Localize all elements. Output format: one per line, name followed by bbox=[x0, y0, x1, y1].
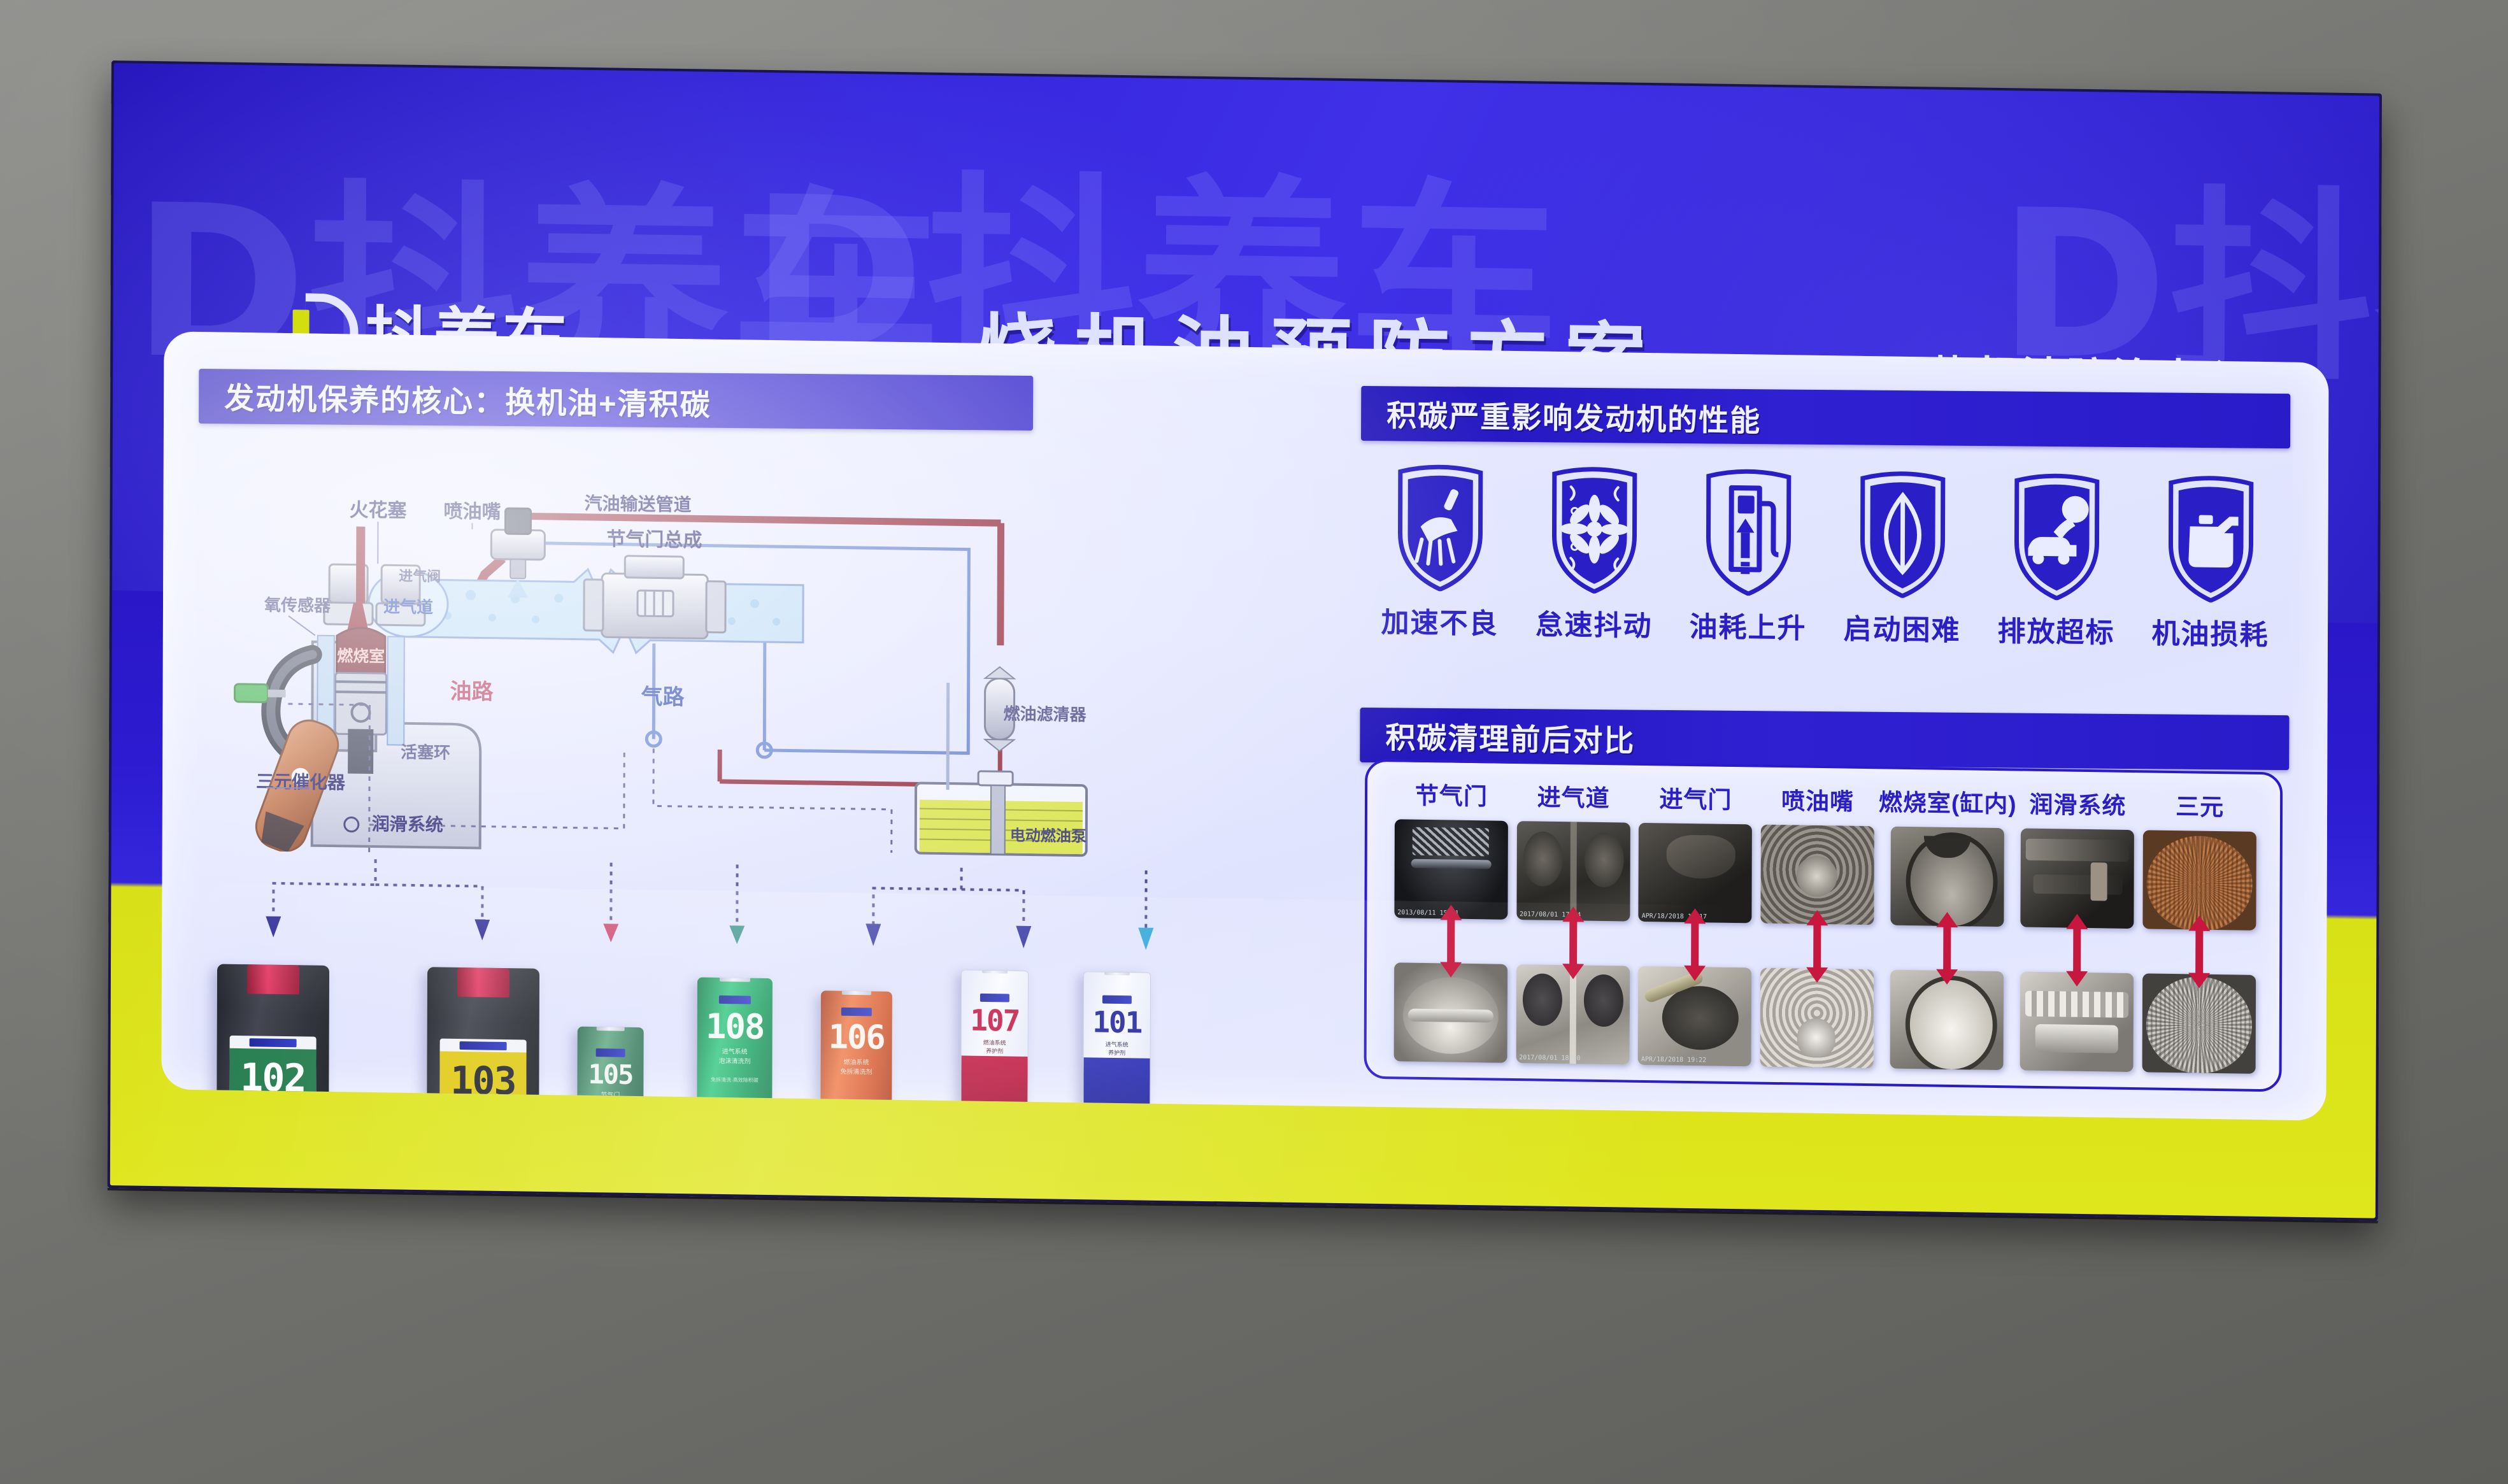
product-103[interactable]: 103 全合成机油抗磨保护长效清洁节能环保 Net 1L bbox=[427, 967, 539, 1120]
section-title-text: 发动机保养的核心：换机油+清积碳 bbox=[199, 373, 711, 424]
compare-column-5: 润滑系统 bbox=[2016, 785, 2139, 1072]
compare-column-label: 进气道 bbox=[1537, 778, 1610, 814]
symptom-label: 加速不良 bbox=[1381, 599, 1498, 642]
product-101[interactable]: 101 进气系统养护剂 Net 300ml bbox=[1083, 971, 1151, 1120]
svg-text:燃烧室: 燃烧室 bbox=[337, 646, 385, 666]
symptom-item-2[interactable]: 油耗上升 bbox=[1683, 464, 1814, 676]
compare-arrow bbox=[1436, 903, 1465, 979]
label-fuel-filter: 燃油滤清器 bbox=[1003, 704, 1087, 725]
photo-timestamp: 2017/08/01 18:20 bbox=[1519, 1054, 1580, 1062]
product-lineup: 102 全合成机油抗磨保护长效清洁节能环保 Net 1L bbox=[203, 857, 1286, 1120]
compare-column-label: 节气门 bbox=[1415, 776, 1488, 812]
symptom-label: 启动困难 bbox=[1843, 606, 1960, 648]
label-throttle-body: 节气门总成 bbox=[606, 528, 702, 552]
compare-column-label: 进气门 bbox=[1659, 780, 1732, 815]
label-fuel-pipe: 汽油输送管道 bbox=[585, 493, 692, 515]
label-lubrication: 润滑系统 bbox=[372, 813, 443, 836]
before-after-compare-box: 节气门 2013/08/11 15:01 bbox=[1364, 759, 2283, 1092]
label-piston-ring: 活塞环 bbox=[401, 743, 450, 763]
symptom-item-1[interactable]: 怠速抖动 bbox=[1528, 462, 1660, 674]
compare-column-6: 三元 bbox=[2138, 787, 2261, 1074]
idle-shake-fan-icon bbox=[1546, 462, 1642, 594]
engine-system-diagram: 燃烧室 bbox=[217, 443, 1294, 866]
compare-arrow bbox=[1680, 907, 1709, 983]
compare-column-3: 喷油嘴 bbox=[1756, 781, 1879, 1069]
symptom-item-4[interactable]: 排放超标 bbox=[1991, 469, 2122, 681]
compare-arrow bbox=[2184, 914, 2214, 990]
oil-can-icon bbox=[2163, 471, 2259, 603]
lightbox-sign-board: D抖养车 D抖养车 D抖养车 抖养车 烧机油预防方案 烧机油防治中心 定位·聚焦… bbox=[108, 61, 2382, 1221]
label-oil-path: 油路 bbox=[450, 679, 494, 705]
photo-timestamp: 2017/08/01 17:44 bbox=[1520, 911, 1581, 918]
label-intake-valve: 进气阀 bbox=[399, 568, 441, 585]
left-column: 发动机保养的核心：换机油+清积碳 bbox=[196, 366, 1320, 1081]
section-header-engine-core: 发动机保养的核心：换机油+清积碳 bbox=[199, 369, 1033, 431]
product-107[interactable]: 107 燃油系统养护剂 Net 300ml bbox=[960, 969, 1029, 1120]
compare-arrow bbox=[1932, 911, 1962, 987]
photo-after bbox=[1393, 962, 1507, 1063]
label-injector: 喷油嘴 bbox=[443, 501, 501, 524]
section-header-compare: 积碳清理前后对比 bbox=[1360, 708, 2289, 770]
right-column: 积碳严重影响发动机的性能 加速不良 bbox=[1358, 383, 2290, 1094]
photo-timestamp: 2013/08/11 15:01 bbox=[1397, 909, 1458, 917]
label-spark-plug: 火花塞 bbox=[349, 499, 406, 522]
symptom-label: 机油损耗 bbox=[2151, 610, 2269, 653]
compare-column-2: 进气门 APR/18/2018 18:17 APR/18/2018 19:22 bbox=[1634, 780, 1756, 1067]
section-header-symptoms: 积碳严重影响发动机的性能 bbox=[1361, 386, 2290, 448]
compare-arrow bbox=[2062, 912, 2091, 988]
symptom-label: 怠速抖动 bbox=[1535, 601, 1652, 644]
compare-column-4: 燃烧室(缸内) bbox=[1877, 783, 2016, 1070]
photo-after: 2017/08/01 18:20 bbox=[1516, 964, 1630, 1065]
photo-timestamp: APR/18/2018 19:22 bbox=[1641, 1056, 1706, 1064]
compare-column-0: 节气门 2013/08/11 15:01 bbox=[1390, 776, 1513, 1063]
label-air-path: 气路 bbox=[640, 684, 685, 710]
fuel-pump-up-arrow-icon bbox=[1700, 464, 1797, 596]
compare-column-label: 润滑系统 bbox=[2029, 785, 2126, 821]
compare-column-label: 三元 bbox=[2176, 787, 2224, 822]
symptom-icon-row: 加速不良 bbox=[1360, 459, 2290, 683]
emission-exceed-car-icon bbox=[2009, 469, 2105, 601]
hard-start-key-icon bbox=[1855, 467, 1951, 599]
section-title-text: 积碳严重影响发动机的性能 bbox=[1361, 390, 1761, 440]
photo-before: 2013/08/11 15:01 bbox=[1394, 819, 1508, 920]
symptom-item-3[interactable]: 启动困难 bbox=[1837, 466, 1968, 678]
product-row: 102 全合成机油抗磨保护长效清洁节能环保 Net 1L bbox=[203, 932, 1286, 1120]
compare-column-1: 进气道 2017/08/01 17:44 bbox=[1511, 778, 1634, 1065]
compare-arrow bbox=[1802, 909, 1832, 985]
product-108[interactable]: 108 进气系统泡沫清洗剂 免拆清洗·高效除积碳 500ml bbox=[697, 977, 773, 1120]
product-106[interactable]: 106 燃油系统免拆清洗剂 300ml bbox=[820, 990, 892, 1120]
label-intake-duct: 进气道 bbox=[383, 597, 433, 617]
content-panel: 发动机保养的核心：换机油+清积碳 bbox=[161, 331, 2328, 1120]
compare-arrow bbox=[1558, 905, 1588, 981]
label-catalytic: 三元催化器 bbox=[256, 771, 346, 793]
product-102[interactable]: 102 全合成机油抗磨保护长效清洁节能环保 Net 1L bbox=[217, 964, 329, 1120]
board-face: D抖养车 D抖养车 D抖养车 抖养车 烧机油预防方案 烧机油防治中心 定位·聚焦… bbox=[110, 63, 2379, 1218]
accelerate-poor-icon bbox=[1392, 460, 1488, 592]
symptom-item-0[interactable]: 加速不良 bbox=[1374, 460, 1506, 672]
photo-before: 2017/08/01 17:44 bbox=[1516, 821, 1630, 922]
label-oxygen-sensor: 氧传感器 bbox=[264, 596, 331, 617]
symptom-label: 排放超标 bbox=[1997, 608, 2114, 651]
compare-column-label: 燃烧室(缸内) bbox=[1879, 783, 2017, 819]
product-connector-lines bbox=[203, 857, 1286, 952]
label-fuel-pump: 电动燃油泵 bbox=[1010, 827, 1087, 846]
product-105[interactable]: 105 节气门清洗剂 300ml bbox=[577, 1027, 644, 1121]
section-title-text: 积碳清理前后对比 bbox=[1360, 712, 1635, 760]
symptom-label: 油耗上升 bbox=[1689, 604, 1806, 646]
symptom-item-5[interactable]: 机油损耗 bbox=[2145, 471, 2276, 683]
compare-column-label: 喷油嘴 bbox=[1781, 781, 1854, 817]
